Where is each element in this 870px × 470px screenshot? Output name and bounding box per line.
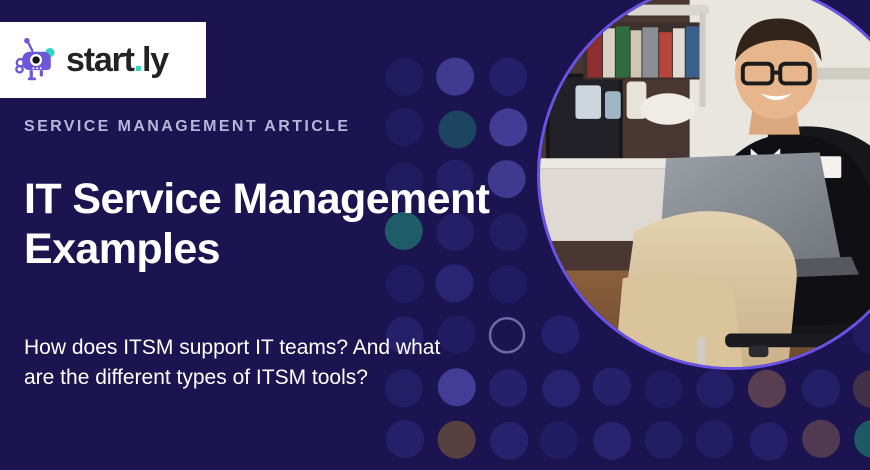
startly-wordmark: start.ly: [66, 43, 168, 77]
startly-robot-mascot-icon: [14, 37, 60, 83]
logo-word-main: start: [66, 41, 134, 79]
decorative-dot: [696, 370, 734, 408]
article-category-eyebrow: SERVICE MANAGEMENT ARTICLE: [24, 118, 524, 136]
page-title: IT Service Management Examples: [24, 174, 494, 275]
page-subtitle: How does ITSM support IT teams? And what…: [24, 333, 464, 394]
decorative-dot: [750, 422, 788, 460]
photo-artwork: [540, 0, 870, 367]
decorative-dot: [386, 58, 424, 96]
man-working-on-laptop-in-office-photo: [537, 0, 870, 370]
decorative-dot: [593, 422, 631, 460]
decorative-dot: [542, 370, 580, 408]
article-hero-banner: start.ly SERVICE MANAGEMENT ARTICLE IT S…: [0, 0, 870, 470]
decorative-dot: [644, 370, 682, 408]
logo-word-dot: .: [134, 41, 142, 79]
decorative-dot: [802, 420, 840, 458]
logo-word-suffix: ly: [142, 41, 168, 79]
decorative-dot: [593, 368, 631, 406]
decorative-dot: [748, 370, 786, 408]
decorative-dot: [386, 420, 424, 458]
decorative-dot: [436, 58, 474, 96]
startly-logo[interactable]: start.ly: [0, 22, 206, 98]
decorative-dot: [540, 421, 578, 459]
decorative-dot: [696, 420, 734, 458]
hero-text-block: SERVICE MANAGEMENT ARTICLE IT Service Ma…: [24, 118, 524, 393]
decorative-dot: [645, 421, 683, 459]
decorative-dot: [438, 421, 476, 459]
decorative-dot: [802, 370, 840, 408]
decorative-dot: [489, 58, 527, 96]
decorative-dot: [490, 422, 528, 460]
decorative-dot: [853, 370, 870, 408]
decorative-dot: [854, 420, 870, 458]
